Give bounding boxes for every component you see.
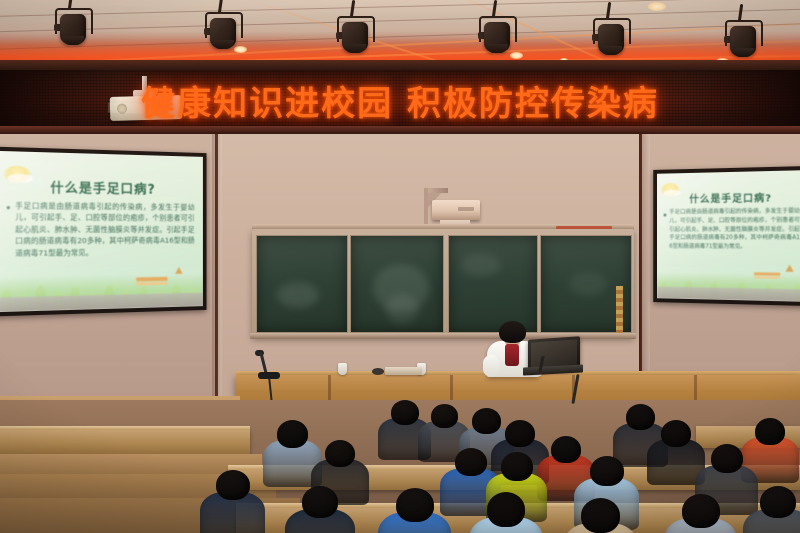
blackboard-side-chart [616, 286, 623, 338]
notebook [385, 367, 421, 375]
audience-member [378, 488, 451, 533]
audience-member-head [590, 456, 624, 486]
audience-member-head [277, 420, 308, 448]
left-projection-screen: 什么是手足口病? 手足口病是由肠道病毒引起的传染病，多发生于婴幼儿，可引起手、足… [0, 147, 207, 317]
slide-bullet-dot [7, 206, 10, 209]
audience-member-head [455, 448, 487, 476]
presenter-scarf [505, 344, 519, 366]
auditorium-scene: 健康知识进校园 积极防控传染病 什么是手足口病? 手足口病是由肠道病毒引起的传染… [0, 0, 800, 533]
blackboard-panel [448, 235, 538, 333]
slide-pagoda-icon [175, 267, 182, 274]
slide-bench-decoration [136, 277, 167, 282]
audience-member-head [431, 404, 458, 428]
wall-projector-arm [424, 188, 428, 228]
ceiling-downlight [648, 2, 666, 11]
audience-member-head [302, 486, 338, 518]
blackboard-panel [350, 235, 444, 333]
audience-member-head [661, 420, 691, 447]
audience-member-head [755, 418, 785, 445]
slide-content-left: 什么是手足口病? 手足口病是由肠道病毒引起的传染病，多发生于婴幼儿，可引起手、足… [0, 151, 203, 312]
audience-member [285, 486, 355, 533]
laptop-screen [531, 339, 577, 367]
audience-member-head [682, 494, 720, 528]
slide-bullet-dot [664, 214, 666, 216]
slide-pagoda-icon [785, 265, 793, 272]
slide-title: 什么是手足口病? [657, 189, 800, 206]
audience-member-head [505, 420, 535, 447]
blackboard-panel [256, 235, 348, 333]
audience-member [563, 498, 638, 533]
presenter-hair [499, 321, 526, 343]
wall-projector [432, 200, 480, 220]
audience-member-head [487, 492, 525, 527]
presenter-left-arm [483, 355, 499, 377]
right-projection-screen: 什么是手足口病? 手足口病是由肠道病毒引起的传染病，多发生于婴幼儿，可引起手、足… [653, 166, 800, 306]
audience-member [743, 486, 800, 533]
audience-member [200, 470, 265, 533]
slide-title: 什么是手足口病? [0, 176, 203, 198]
led-banner-frame [0, 126, 800, 134]
wall-corner-right [640, 132, 650, 400]
ceiling-downlight [234, 46, 247, 53]
audience-desk-row [0, 428, 250, 454]
led-banner: 健康知识进校园 积极防控传染病 [0, 70, 800, 132]
audience-member-head [216, 470, 250, 500]
audience-member-head [325, 440, 355, 467]
slide-body-text: 手足口病是由肠道病毒引起的传染病，多发生于婴幼儿，可引起手、足、口腔等部位的疱疹… [669, 207, 800, 252]
wall-corner-left [212, 132, 222, 400]
audience-member-head [391, 400, 419, 425]
audience-member-head [396, 488, 434, 522]
audience-member [469, 492, 543, 533]
blackboard-frame [252, 229, 634, 337]
slide-bench-decoration [754, 272, 780, 275]
paper-cup [338, 363, 347, 375]
ceiling-downlight [510, 52, 523, 59]
audience-member-head [760, 486, 796, 518]
audience-member [664, 494, 737, 533]
audience-member-head [501, 452, 533, 481]
ceiling-dark-band [0, 60, 800, 70]
audience-member-head [711, 444, 743, 473]
audience-member-head [581, 498, 620, 533]
slide-body-text: 手足口病是由肠道病毒引起的传染病，多发生于婴幼儿，可引起手、足、口腔等部位的疱疹… [15, 200, 194, 259]
computer-mouse [372, 368, 384, 375]
slide-content-right: 什么是手足口病? 手足口病是由肠道病毒引起的传染病，多发生于婴幼儿，可引起手、足… [657, 170, 800, 302]
